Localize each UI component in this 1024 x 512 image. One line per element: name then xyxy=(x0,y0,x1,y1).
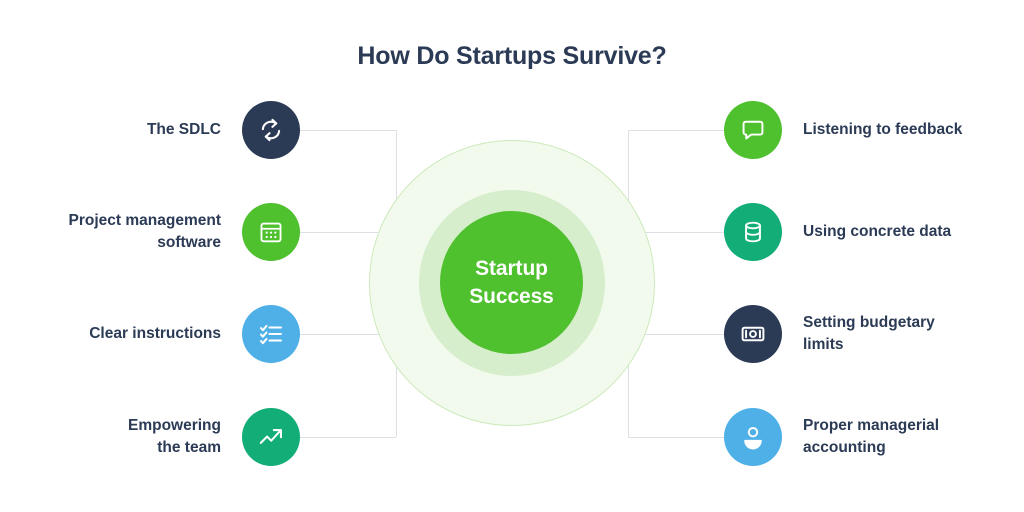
item-setting-budgetary-limits[interactable]: Setting budgetarylimits xyxy=(724,305,1014,363)
item-clear-instructions[interactable]: Clear instructions xyxy=(20,305,300,363)
speech-bubble-icon xyxy=(740,117,766,143)
banknote-icon xyxy=(740,321,766,347)
center-startup-success: Startup Success xyxy=(440,211,583,354)
icon-bubble[interactable] xyxy=(242,101,300,159)
item-label: Listening to feedback xyxy=(803,119,962,141)
item-project-management-software[interactable]: Project managementsoftware xyxy=(20,203,300,261)
icon-bubble[interactable] xyxy=(242,305,300,363)
database-icon xyxy=(740,219,766,245)
connector-left-1 xyxy=(299,130,396,131)
icon-bubble[interactable] xyxy=(724,408,782,466)
item-label: Using concrete data xyxy=(803,221,951,243)
checklist-icon xyxy=(258,321,284,347)
refresh-cycle-icon xyxy=(258,117,284,143)
center-label-line2: Success xyxy=(469,283,554,310)
item-empowering-the-team[interactable]: Empoweringthe team xyxy=(20,408,300,466)
trending-up-icon xyxy=(258,424,284,450)
item-label: Project managementsoftware xyxy=(69,210,221,254)
icon-bubble[interactable] xyxy=(724,203,782,261)
item-label: The SDLC xyxy=(147,119,221,141)
item-label: Clear instructions xyxy=(89,323,221,345)
item-label: Proper managerialaccounting xyxy=(803,415,939,459)
page-title: How Do Startups Survive? xyxy=(0,42,1024,71)
center-label-line1: Startup xyxy=(475,255,548,282)
icon-bubble[interactable] xyxy=(242,408,300,466)
calendar-icon xyxy=(258,219,284,245)
item-the-sdlc[interactable]: The SDLC xyxy=(20,101,300,159)
icon-bubble[interactable] xyxy=(242,203,300,261)
item-label: Setting budgetarylimits xyxy=(803,312,935,356)
item-using-concrete-data[interactable]: Using concrete data xyxy=(724,203,1014,261)
icon-bubble[interactable] xyxy=(724,101,782,159)
connector-right-1 xyxy=(628,130,725,131)
connector-left-4 xyxy=(299,437,396,438)
item-listening-to-feedback[interactable]: Listening to feedback xyxy=(724,101,1014,159)
item-proper-managerial-accounting[interactable]: Proper managerialaccounting xyxy=(724,408,1014,466)
icon-bubble[interactable] xyxy=(724,305,782,363)
item-label: Empoweringthe team xyxy=(128,415,221,459)
infographic-canvas: How Do Startups Survive? Startup Success… xyxy=(0,0,1024,512)
connector-right-4 xyxy=(628,437,725,438)
user-icon xyxy=(740,424,766,450)
